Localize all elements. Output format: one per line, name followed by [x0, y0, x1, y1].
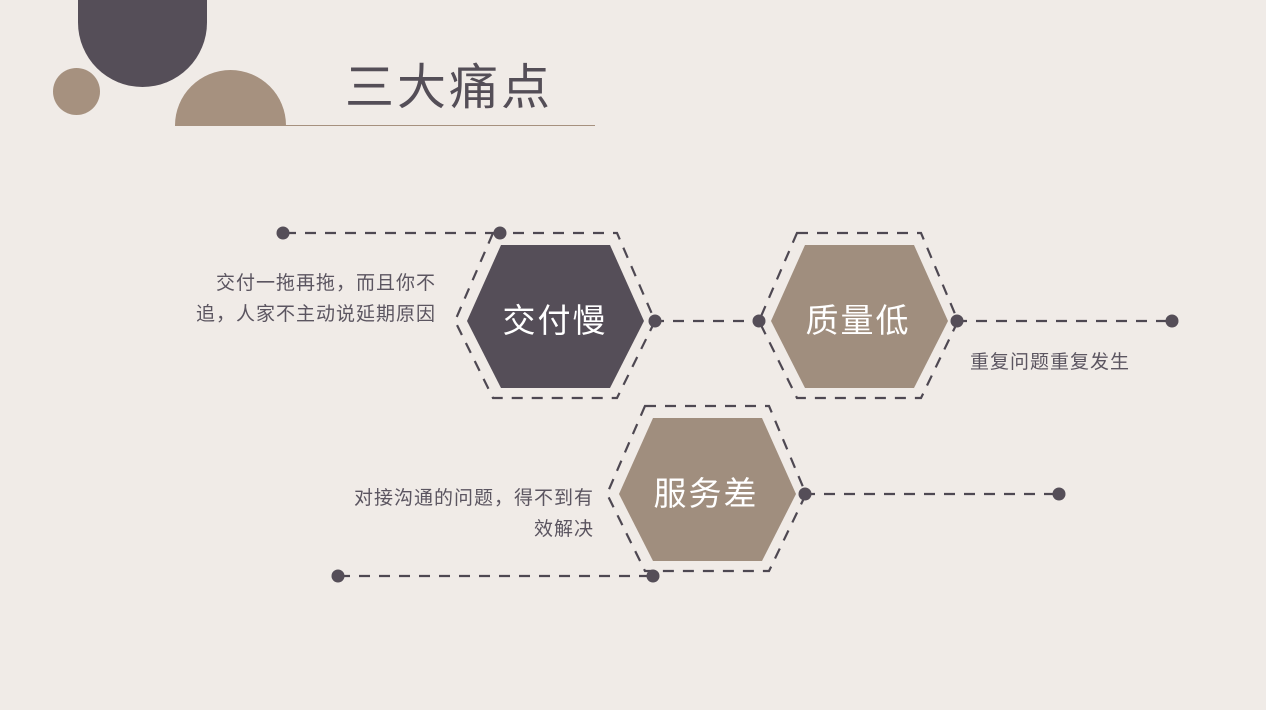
node-dot-hex1-topleft: [494, 227, 507, 240]
node-dot-hex2-right: [951, 315, 964, 328]
caption-delivery: 交付一拖再拖，而且你不追，人家不主动说延期原因: [188, 268, 436, 330]
hex-label-service-poor: 服务差: [654, 475, 759, 513]
node-dot-right-bottom-end: [1053, 488, 1066, 501]
node-dot-left-bottom-end: [332, 570, 345, 583]
caption-quality: 重复问题重复发生: [970, 347, 1230, 378]
slide-canvas: 三大痛点 交付慢 质量低 服务差 交付一拖再拖，而且你不追，人家不主动说延: [0, 0, 1266, 710]
node-dot-hex3-right: [799, 488, 812, 501]
hex-label-quality-low: 质量低: [806, 302, 911, 340]
node-dot-left-top-end: [277, 227, 290, 240]
node-dot-hex1-right: [649, 315, 662, 328]
hex-label-delivery-slow: 交付慢: [503, 302, 608, 340]
node-dot-hex2-left: [753, 315, 766, 328]
node-dot-right-mid-end: [1166, 315, 1179, 328]
node-dot-hex3-bottomleft: [647, 570, 660, 583]
caption-service: 对接沟通的问题，得不到有效解决: [344, 483, 594, 545]
